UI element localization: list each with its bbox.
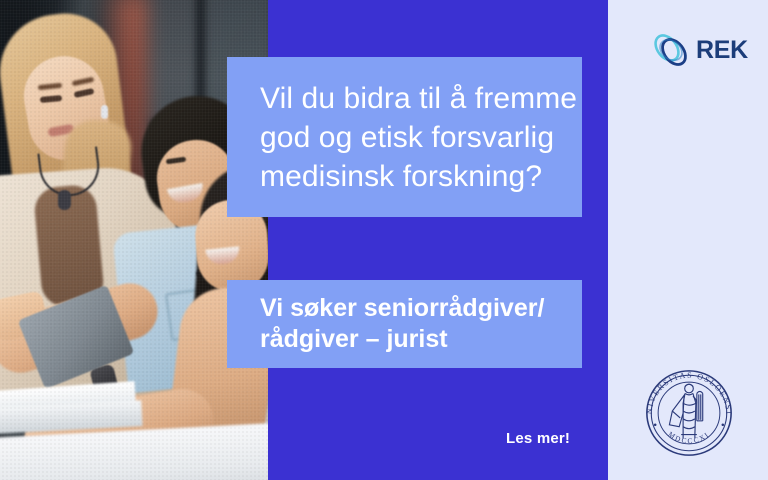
necklace-pendant (58, 190, 71, 210)
apollo-figure (669, 384, 702, 438)
blonde-woman-earring (101, 105, 108, 119)
headline-text: Vil du bidra til å fremme god og etisk f… (227, 79, 577, 196)
seal-bottom-legend: MDCCCXI (667, 430, 712, 445)
rek-wordmark: REK (696, 38, 748, 63)
headline-box: Vil du bidra til å fremme god og etisk f… (227, 57, 582, 217)
interlocking-rings-icon (650, 29, 692, 71)
job-title-text: Vi søker seniorrådgiver/ rådgiver – juri… (227, 293, 544, 356)
uio-seal: UNIVERSITAS OSLOENSIS MDCCCXI (640, 364, 738, 462)
recruitment-banner: Vil du bidra til å fremme god og etisk f… (0, 0, 768, 480)
rek-logo[interactable]: REK (650, 28, 746, 72)
job-title-box: Vi søker seniorrådgiver/ rådgiver – juri… (227, 280, 582, 368)
uio-seal-graphic: UNIVERSITAS OSLOENSIS MDCCCXI (640, 364, 738, 462)
read-more-link[interactable]: Les mer! (506, 430, 570, 447)
